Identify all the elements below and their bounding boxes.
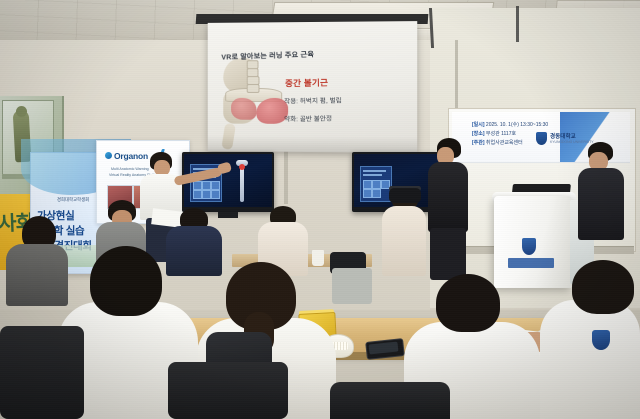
projection-screen: VR로 알아보는 러닝 주요 근육 중간 볼기근 작용: 허벅지 폄, 벌림 약… (208, 21, 418, 153)
banner-value-datetime: 2025. 10. 1(수) 13:30~15:30 (486, 122, 548, 128)
banner-tag-host: [주관] (472, 140, 485, 146)
wall-seam-c (516, 6, 519, 42)
chair-foreground-2 (168, 362, 288, 419)
banner-row-host: [주관] 취업사관교육센터 (472, 139, 523, 146)
man-at-podium (578, 168, 624, 240)
standing-attendee-legs (430, 228, 466, 280)
vr-ui-thumb (372, 180, 381, 189)
slide-heading: 중간 볼기근 (285, 77, 328, 90)
classroom-photo-scene: VR로 알아보는 러닝 주요 근육 중간 볼기근 작용: 허벅지 폄, 벌림 약… (0, 0, 640, 419)
banner-row-location: [장소] 무성관 1117호 (472, 130, 516, 137)
chair-foreground-3 (330, 382, 450, 419)
university-crest-icon (536, 132, 547, 145)
standing-attendee-black-tshirt (428, 162, 468, 232)
screen-shadow (208, 135, 418, 153)
foreground-student-1-head (90, 246, 162, 316)
gluteus-highlight-left (231, 98, 256, 120)
banner-row-datetime: [일시] 2025. 10. 1(수) 13:30~15:30 (472, 121, 548, 128)
banner-value-host: 취업사관교육센터 (486, 140, 523, 146)
foreground-student-3-head (436, 274, 500, 332)
statue-head (16, 106, 27, 117)
foreground-student-4-head (572, 260, 634, 314)
banner-value-location: 무성관 1117호 (486, 131, 516, 137)
demo-monitor-left (182, 152, 274, 212)
vr-ui-thumb (202, 181, 211, 190)
vr-ui-thumb (211, 181, 220, 190)
monitor-left-stand (218, 212, 238, 218)
university-name: 경동대학교 (550, 132, 576, 140)
vr-headset-icon (389, 188, 421, 203)
banner-tag-datetime: [일시] (472, 122, 485, 128)
vr-ui-row (363, 170, 386, 172)
vr-ui-thumb (363, 189, 372, 198)
slide-line-weakness: 약화: 골반 불안정 (284, 113, 332, 124)
spine-seg-4 (247, 84, 260, 93)
foreground-student-4 (540, 300, 640, 419)
slide-title: VR로 알아보는 러닝 주요 근육 (221, 47, 380, 62)
podium-university-label (508, 258, 554, 268)
slide-content: VR로 알아보는 러닝 주요 근육 중간 볼기근 작용: 허벅지 폄, 벌림 약… (208, 21, 418, 153)
slide-line-action: 작용: 허벅지 폄, 벌림 (284, 95, 342, 106)
vr-selection-marker (239, 164, 245, 170)
banner-tag-location: [장소] (472, 131, 485, 137)
vr-ui-thumb (211, 190, 220, 199)
vr-ui-row (363, 174, 382, 176)
vr-ui-thumb (202, 190, 211, 199)
chair-foreground-1 (0, 326, 84, 419)
seated-attendee-left-body (6, 244, 68, 306)
vr-ui-thumb (193, 181, 202, 190)
back-table-cup (312, 250, 324, 266)
organon-logo-icon (105, 152, 112, 159)
participant-wearing-vr-headset (382, 206, 426, 276)
seated-attendee-navy-suit (166, 226, 222, 276)
vr-ui-thumb (193, 190, 202, 199)
lab-coat-university-patch-icon (592, 330, 610, 350)
vr-ui-thumb (372, 189, 381, 198)
university-name-english: KYUNGDONG UNIVERSITY (550, 140, 594, 144)
podium-crest-icon (522, 238, 536, 255)
vr-ui-thumb (363, 180, 372, 189)
poster-subtitle-1: Multi Anatomic Warning (111, 167, 149, 171)
organon-brand-text: Organon (114, 151, 148, 161)
back-chair (332, 268, 372, 304)
